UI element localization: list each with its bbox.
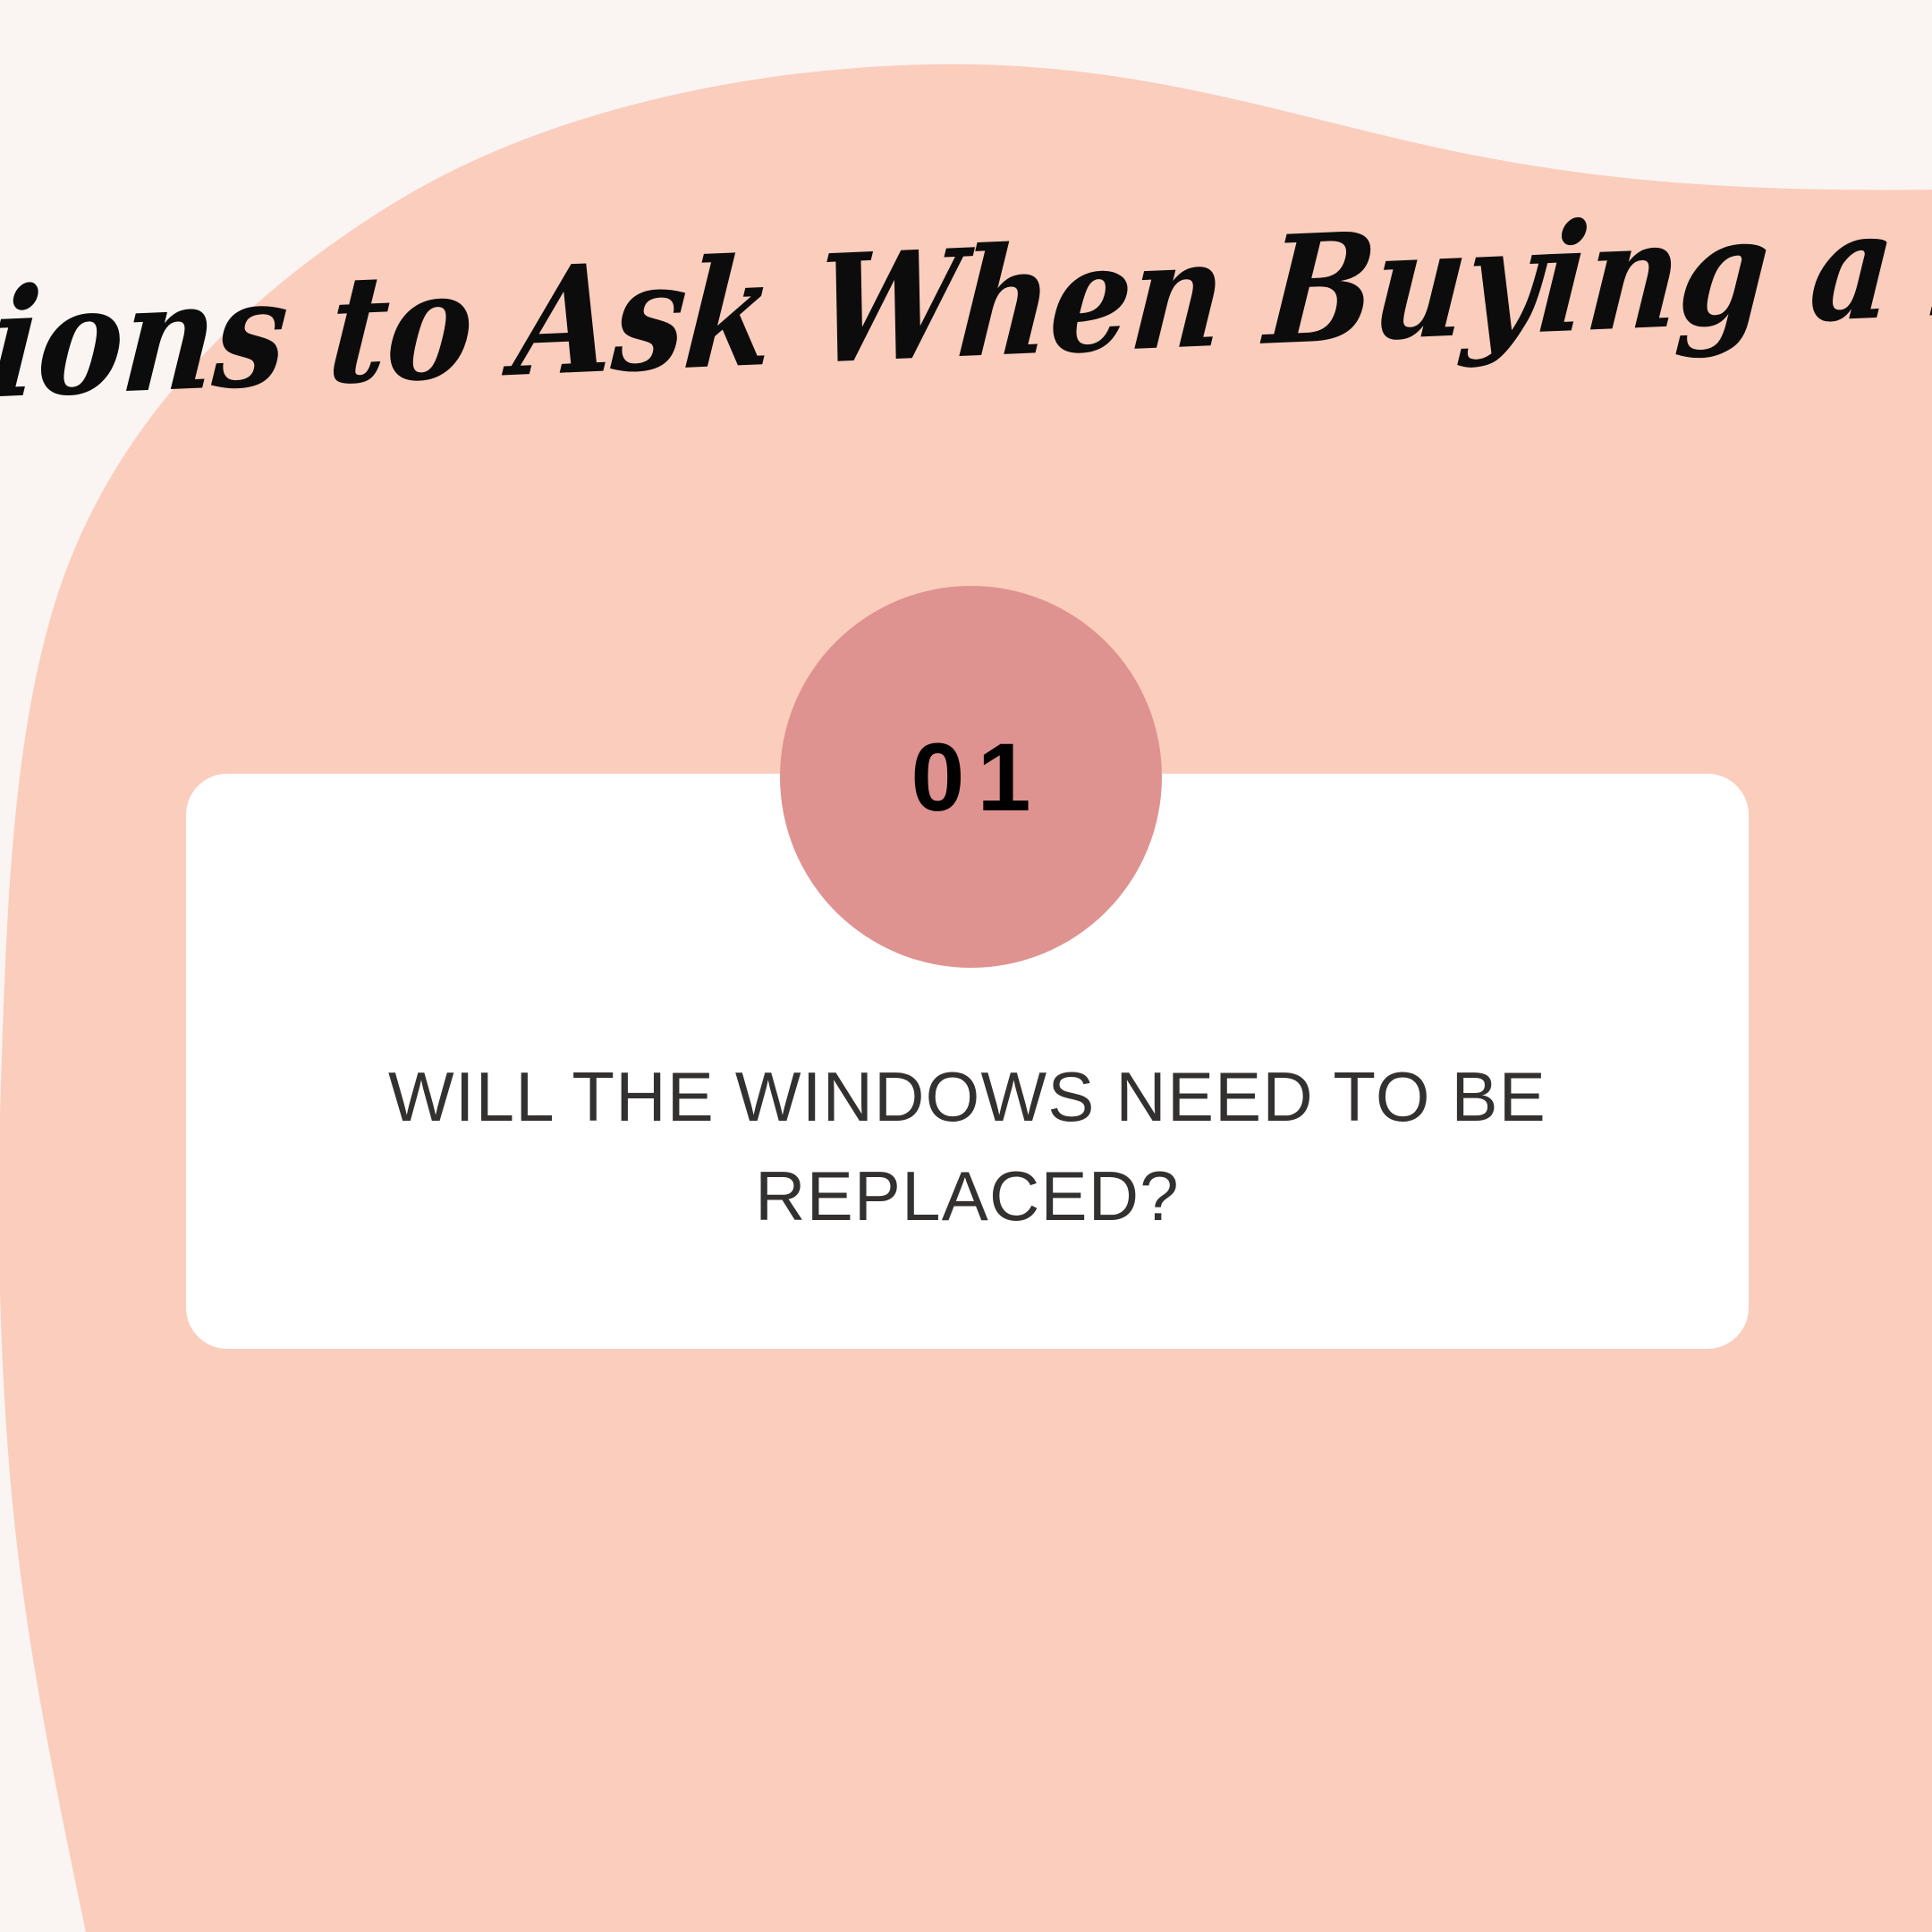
- poster-canvas: Questions to Ask When Buying a Home Will…: [0, 0, 1932, 1932]
- number-badge-circle: 01: [780, 586, 1162, 968]
- question-text: Will the Windows Need to Be Replaced?: [356, 1047, 1579, 1246]
- number-badge-label: 01: [898, 729, 1043, 826]
